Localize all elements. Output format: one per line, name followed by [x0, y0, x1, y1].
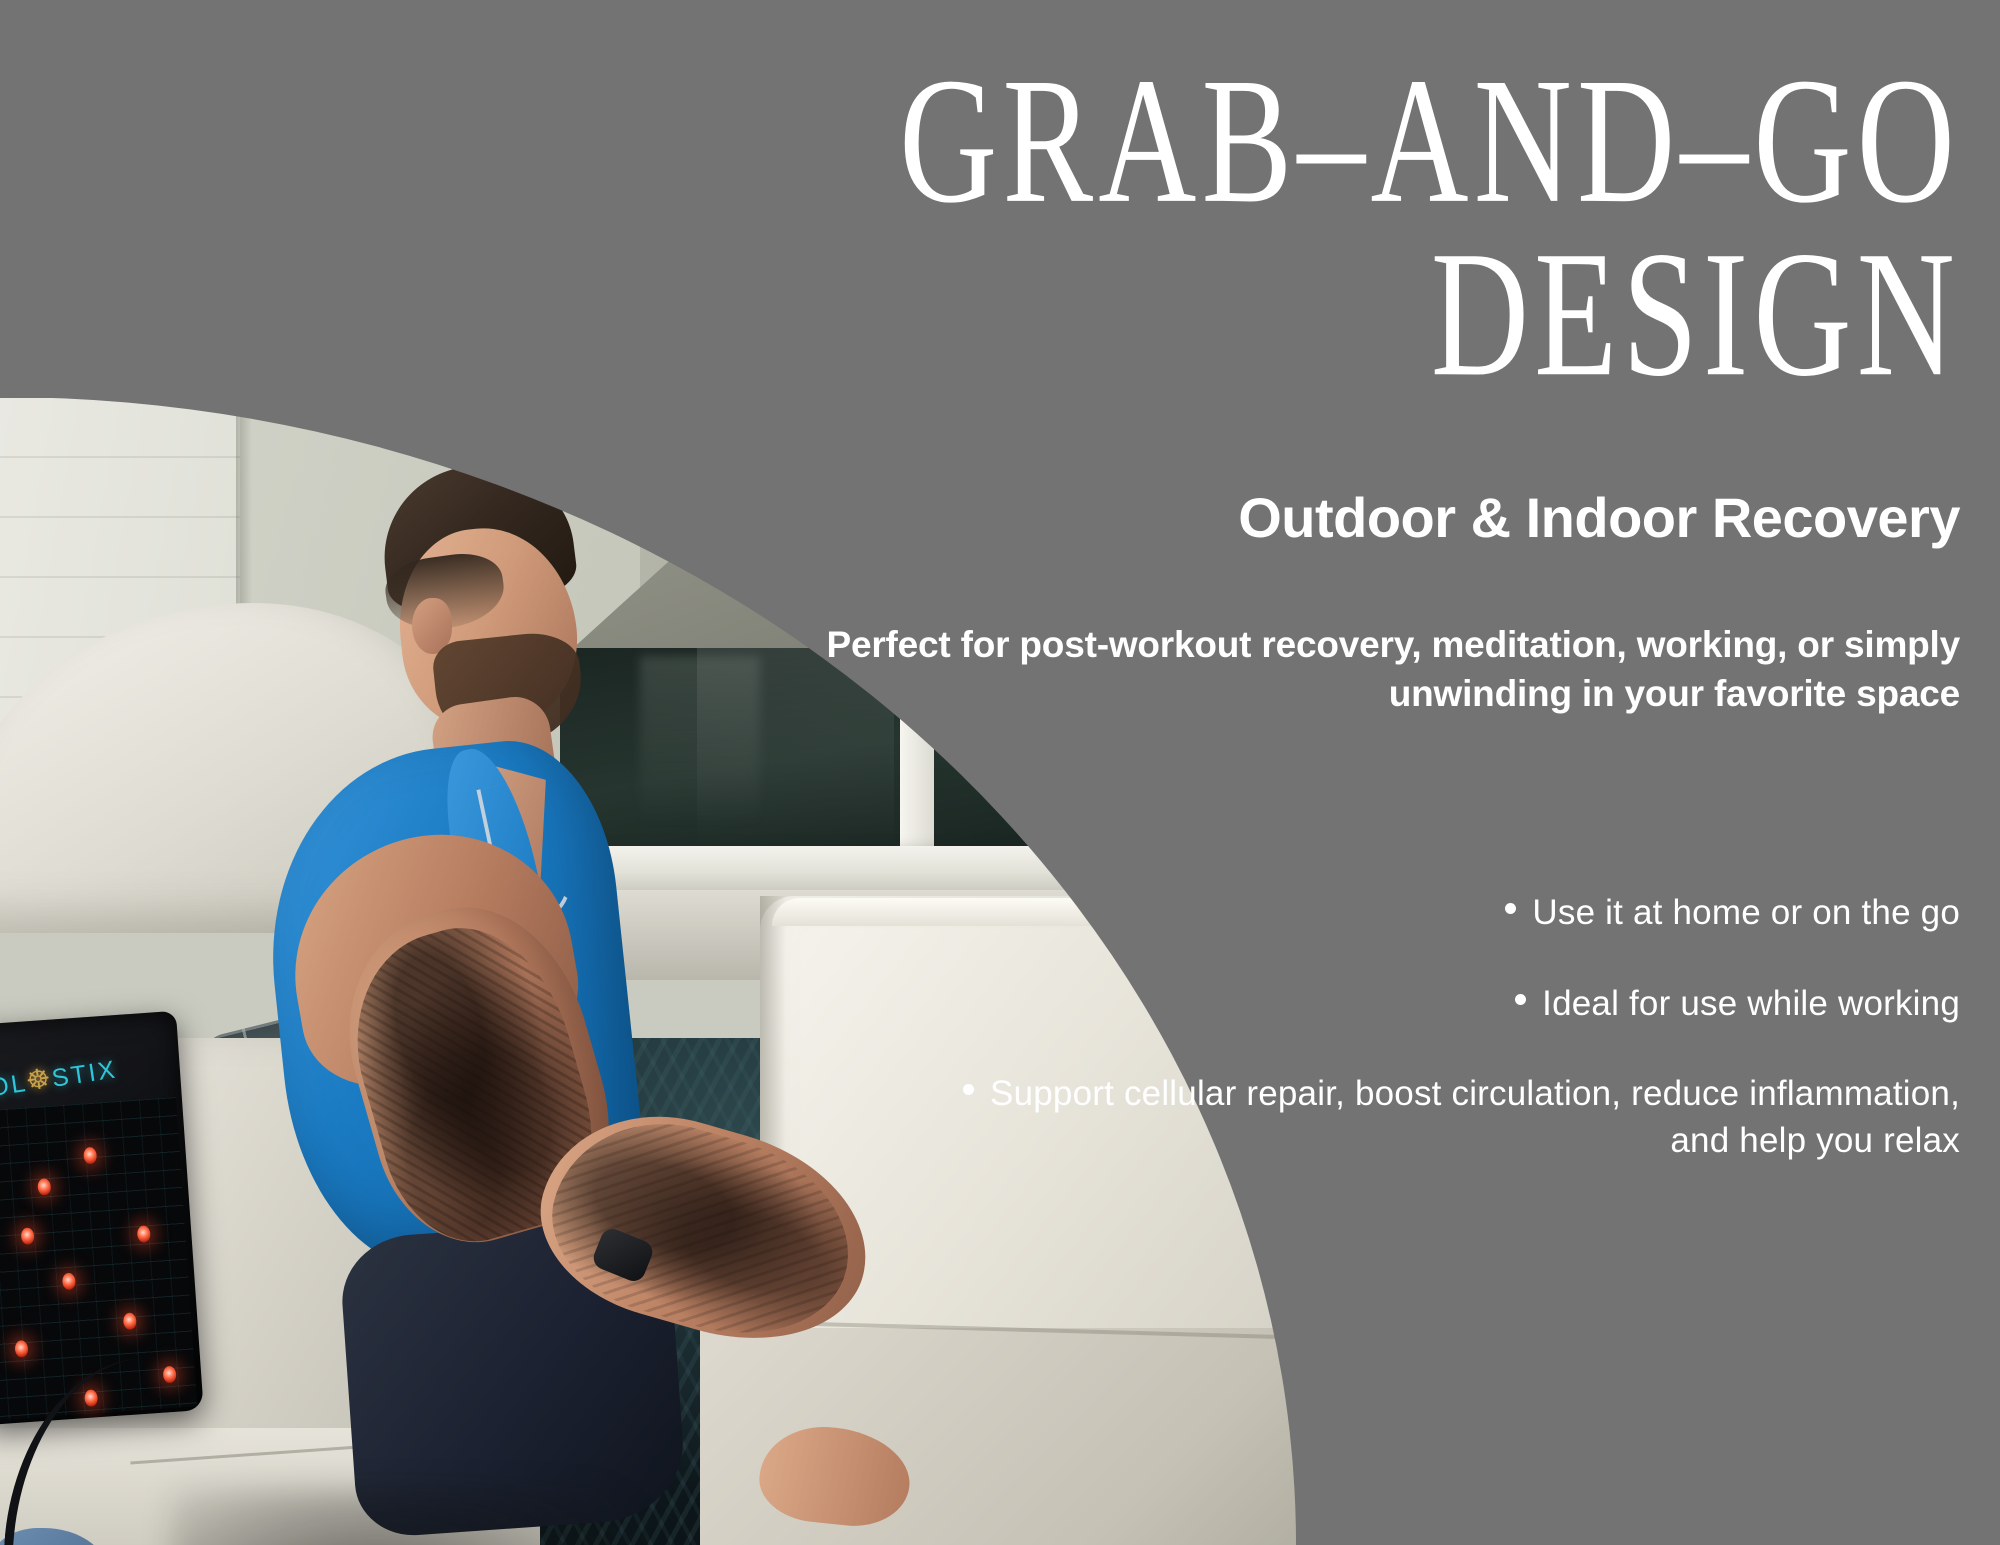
page-title: GRAB–AND–GO DESIGN	[756, 55, 1960, 401]
bullet-dot-icon	[963, 1084, 974, 1095]
holistix-brand-logo: HOL☸STIX	[0, 1050, 145, 1106]
led-light	[83, 1147, 97, 1165]
list-item-label: Ideal for use while working	[1542, 984, 1960, 1023]
lede-paragraph: Perfect for post-workout recovery, medit…	[800, 620, 1960, 718]
holistix-logo-suffix: STIX	[50, 1055, 119, 1092]
led-light	[137, 1225, 151, 1243]
list-item-label: Support cellular repair, boost circulati…	[990, 1074, 1960, 1160]
led-light	[14, 1340, 28, 1358]
list-item: Use it at home or on the go	[960, 890, 1960, 937]
leaf-icon: ☸	[24, 1061, 56, 1098]
led-light	[37, 1178, 51, 1196]
foreground-shadow	[170, 1488, 690, 1545]
benefits-list: Use it at home or on the go Ideal for us…	[960, 890, 1960, 1208]
poster-canvas: HOL☸STIX HOLISTIX	[0, 0, 2000, 1545]
list-item-label: Use it at home or on the go	[1532, 893, 1960, 932]
list-item: Support cellular repair, boost circulati…	[960, 1071, 1960, 1164]
led-light	[62, 1272, 76, 1290]
hand	[755, 1420, 914, 1531]
bullet-dot-icon	[1515, 994, 1526, 1005]
led-light	[123, 1312, 137, 1330]
bullet-dot-icon	[1505, 903, 1516, 914]
list-item: Ideal for use while working	[960, 981, 1960, 1028]
led-light	[21, 1227, 35, 1245]
person-seated	[240, 428, 960, 1545]
section-heading: Outdoor & Indoor Recovery	[700, 487, 1960, 549]
